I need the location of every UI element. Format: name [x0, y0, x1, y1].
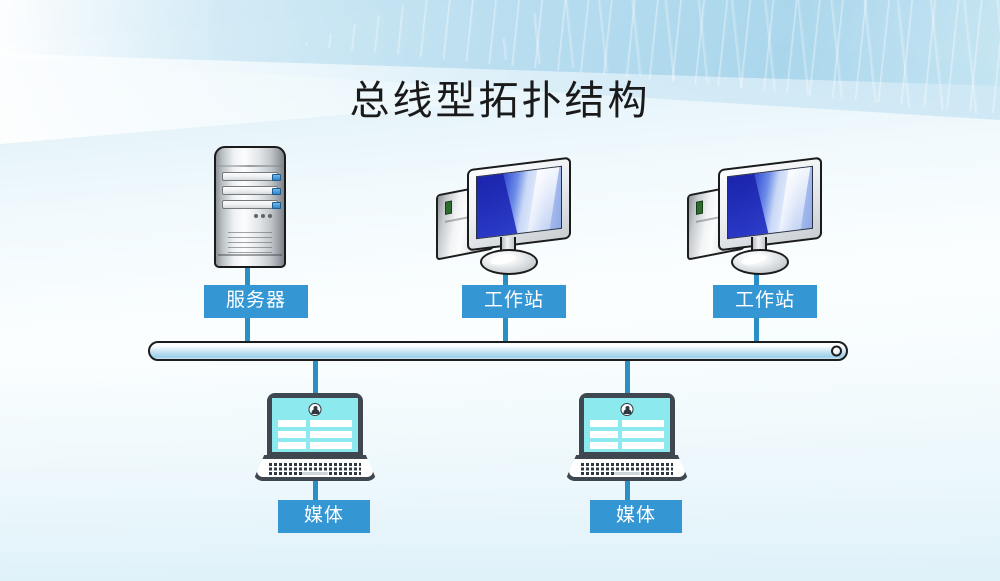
laptop-lid: [579, 393, 675, 457]
server-bay-indicator-icon: [272, 188, 281, 195]
laptop-icon: [253, 393, 377, 485]
server-bay-indicator-icon: [272, 202, 281, 209]
laptop-form-row: [278, 431, 352, 438]
bus-backbone: [148, 341, 848, 361]
laptop-screen-form: [590, 420, 664, 449]
server-vent-grille: [228, 232, 272, 254]
workstation-case-slot: [445, 201, 452, 215]
laptop-form-row: [590, 431, 664, 438]
background-bottom-glow: [0, 361, 1000, 581]
workstation-base-highlight: [489, 252, 516, 266]
server-top-seam: [218, 165, 282, 167]
laptop-form-row: [278, 442, 352, 449]
workstation-screen: [476, 166, 562, 240]
server-drive-bay: [222, 186, 278, 195]
topology-diagram-canvas: 总线型拓扑结构 服务器: [0, 0, 1000, 581]
server-drive-bay: [222, 172, 278, 181]
server-chassis: [214, 146, 286, 268]
user-avatar-icon: [621, 403, 634, 416]
node-label-media-2: 媒体: [590, 500, 682, 533]
laptop-base: [253, 455, 377, 481]
laptop-base: [565, 455, 689, 481]
server-tower-icon: [214, 146, 286, 268]
workstation-case-slot: [696, 201, 703, 215]
node-label-workstation-2: 工作站: [713, 285, 817, 318]
page-title: 总线型拓扑结构: [0, 68, 1000, 126]
workstation-screen: [727, 166, 813, 240]
laptop-screen: [272, 398, 358, 452]
workstation-monitor: [718, 157, 822, 252]
node-label-media-1: 媒体: [278, 500, 370, 533]
laptop-screen-form: [278, 420, 352, 449]
laptop-icon: [565, 393, 689, 485]
server-drive-bay: [222, 200, 278, 209]
laptop-screen: [584, 398, 670, 452]
workstation-base-highlight: [740, 252, 767, 266]
bus-terminator-icon: [831, 346, 842, 357]
laptop-trackpad: [302, 472, 328, 475]
desktop-computer-icon: [434, 163, 576, 281]
workstation-monitor: [467, 157, 571, 252]
server-bay-indicator-icon: [272, 174, 281, 181]
laptop-lid: [267, 393, 363, 457]
laptop-trackpad: [614, 472, 640, 475]
server-base-seam: [218, 254, 282, 256]
workstation-monitor-base: [731, 249, 789, 275]
node-label-workstation-1: 工作站: [462, 285, 566, 318]
laptop-form-row: [278, 420, 352, 427]
laptop-form-row: [590, 420, 664, 427]
desktop-computer-icon: [685, 163, 827, 281]
laptop-form-row: [590, 442, 664, 449]
node-label-server: 服务器: [204, 285, 308, 318]
server-status-leds-icon: [254, 214, 272, 218]
workstation-monitor-base: [480, 249, 538, 275]
user-avatar-icon: [309, 403, 322, 416]
